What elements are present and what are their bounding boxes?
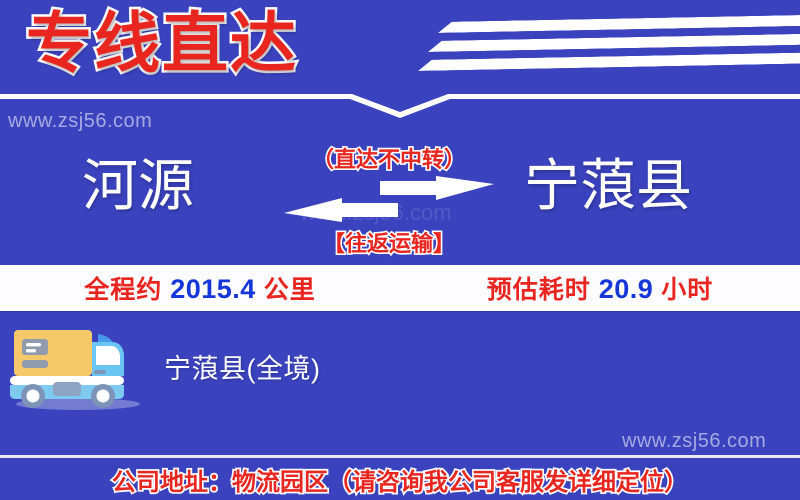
distance-unit: 公里 — [264, 270, 316, 306]
duration-label-prefix: 预估耗时 — [487, 270, 591, 306]
coverage-area-label: 宁蒗县(全境) — [164, 347, 320, 386]
decor-stripe-3 — [418, 52, 800, 71]
company-address-bar: 公司地址：物流园区（请咨询我公司客服发详细定位） — [0, 455, 800, 500]
watermark-bottom: www.zsj56.com — [622, 430, 766, 453]
origin-city: 河源 — [82, 154, 194, 218]
direct-service-badge: （直达不中转） — [284, 142, 494, 174]
distance-label-prefix: 全程约 — [84, 270, 162, 306]
delivery-truck-icon — [6, 320, 146, 412]
bidirectional-arrow-icon — [284, 176, 494, 222]
duration-value: 20.9 — [599, 274, 654, 305]
chevron-divider-icon — [0, 86, 800, 118]
duration-unit: 小时 — [661, 270, 713, 306]
coverage-row: 宁蒗县(全境) — [0, 318, 800, 414]
roundtrip-badge: 【往返运输】 — [284, 226, 494, 258]
duration-metric: 预估耗时 20.9 小时 — [400, 270, 800, 306]
logistics-route-poster: 专线直达 www.zsj56.com www.zsj56.com www.zsj… — [0, 0, 800, 500]
decor-stripe-2 — [428, 34, 800, 52]
route-metrics-bar: 全程约 2015.4 公里 预估耗时 20.9 小时 — [0, 265, 800, 311]
route-row: 河源 （直达不中转） 【往返运输】 宁蒗县 — [0, 140, 800, 260]
company-address-text: 公司地址：物流园区（请咨询我公司客服发详细定位） — [112, 462, 688, 497]
distance-value: 2015.4 — [170, 274, 256, 305]
decor-stripe-1 — [438, 15, 800, 33]
destination-city: 宁蒗县 — [524, 154, 692, 218]
route-middle: （直达不中转） 【往返运输】 — [284, 140, 494, 260]
page-title: 专线直达 — [26, 2, 298, 85]
distance-metric: 全程约 2015.4 公里 — [0, 270, 400, 306]
